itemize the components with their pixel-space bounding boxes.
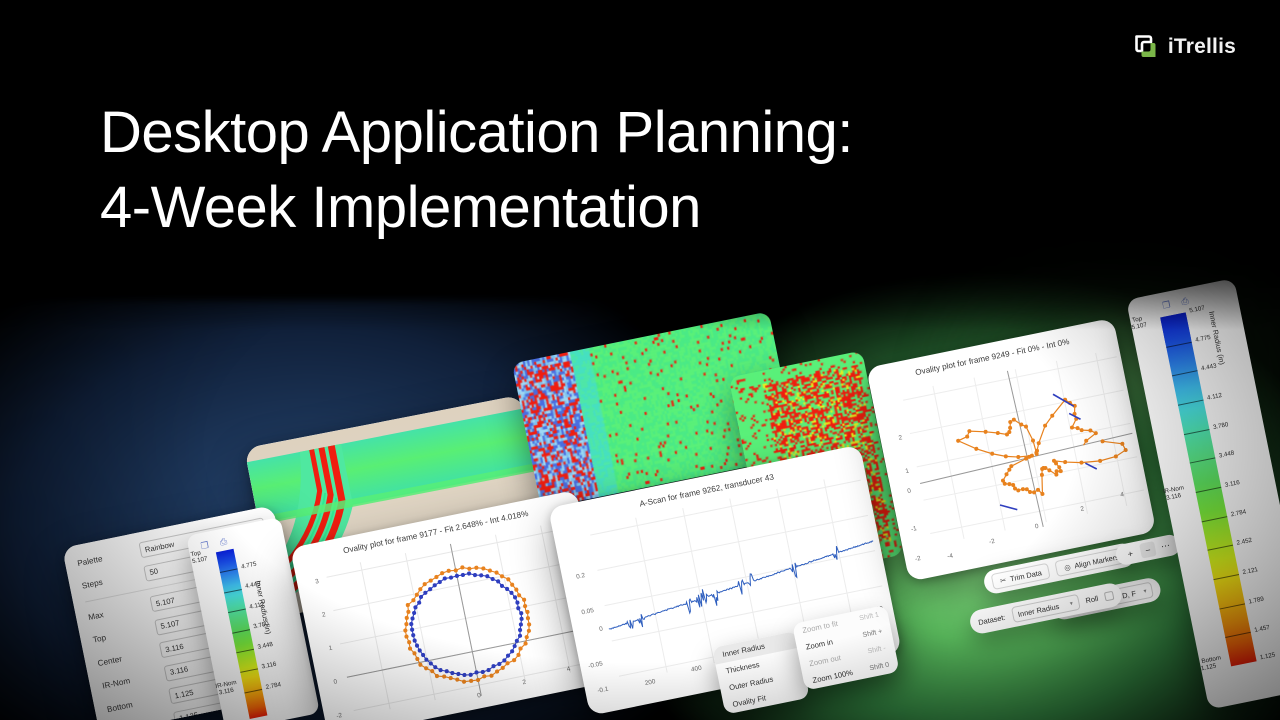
trellis-leaf-logo-icon	[1133, 34, 1159, 60]
svg-text:2: 2	[321, 611, 326, 619]
svg-text:0: 0	[333, 678, 338, 686]
svg-text:0: 0	[1034, 523, 1039, 531]
more-options-button[interactable]: ⋯	[1157, 537, 1175, 555]
chevron-down-icon: ▾	[1143, 587, 1147, 594]
svg-text:400: 400	[691, 665, 703, 674]
roll-label: Roll	[1085, 593, 1099, 604]
svg-text:-2: -2	[336, 712, 343, 720]
title-line-2: 4-Week Implementation	[100, 170, 1060, 245]
svg-text:2: 2	[522, 679, 527, 687]
palette-row-4-label: Center	[97, 648, 154, 668]
chevron-down-icon: ▾	[1069, 599, 1073, 606]
svg-text:-0.1: -0.1	[597, 686, 610, 695]
svg-text:-0.05: -0.05	[588, 660, 604, 670]
svg-text:1: 1	[905, 467, 910, 475]
svg-text:-4: -4	[947, 552, 954, 560]
export-icon[interactable]: ⎙	[215, 533, 233, 551]
align-markers-label: Align Markers	[1073, 552, 1119, 570]
copy-icon[interactable]: ❐	[1158, 297, 1176, 315]
palette-row-1-label: Steps	[81, 571, 138, 591]
dataset-label: Dataset:	[977, 612, 1006, 626]
zoom-out-button[interactable]: −	[1139, 541, 1157, 559]
palette-row-6-label: Bottom	[106, 694, 163, 714]
palette-select-value: Rainbow	[144, 539, 175, 554]
svg-text:3: 3	[315, 578, 320, 586]
svg-text:-1: -1	[910, 525, 917, 533]
page-title: Desktop Application Planning: 4-Week Imp…	[100, 95, 1060, 245]
trim-data-label: Trim Data	[1009, 568, 1042, 583]
brand-name: iTrellis	[1168, 35, 1236, 59]
svg-text:-2: -2	[989, 538, 996, 546]
dataset-menu-item-3-label: Ovality Fit	[732, 693, 767, 709]
zoom-menu-item-2-shortcut: Shift -	[867, 645, 886, 656]
svg-text:0.05: 0.05	[581, 607, 595, 616]
palette-row-2-label: Max	[87, 602, 144, 622]
svg-text:-2: -2	[914, 555, 921, 563]
brand-logo: iTrellis	[1133, 34, 1236, 60]
palette-row-5-label: IR-Nom	[101, 671, 158, 691]
palette-row-3-label: Top	[92, 625, 149, 645]
zoom-menu-item-1-shortcut: Shift +	[862, 628, 883, 639]
zoom-menu-item-3-shortcut: Shift 0	[869, 662, 890, 673]
svg-text:0: 0	[599, 625, 604, 633]
svg-text:0: 0	[907, 487, 912, 495]
zoom-menu-item-0-shortcut: Shift 1	[859, 612, 880, 623]
roll-checkbox[interactable]	[1104, 590, 1115, 601]
svg-text:0.2: 0.2	[576, 572, 587, 581]
title-line-1: Desktop Application Planning:	[100, 95, 1060, 170]
zoom-menu-item-1-label: Zoom in	[805, 637, 834, 651]
svg-text:2: 2	[898, 434, 903, 442]
zoom-in-button[interactable]: +	[1121, 545, 1139, 563]
palette-row-0-label: Palette	[76, 548, 133, 568]
svg-text:2: 2	[1080, 505, 1085, 513]
slide-canvas: Palette Rainbow ▾ Steps 50 Max 5.107 Top…	[0, 0, 1280, 720]
svg-text:1: 1	[328, 645, 333, 653]
dataset-value: Inner Radius	[1017, 601, 1060, 618]
target-icon: ◎	[1063, 562, 1071, 572]
scissors-icon: ✂	[999, 575, 1007, 585]
svg-text:200: 200	[644, 678, 656, 687]
